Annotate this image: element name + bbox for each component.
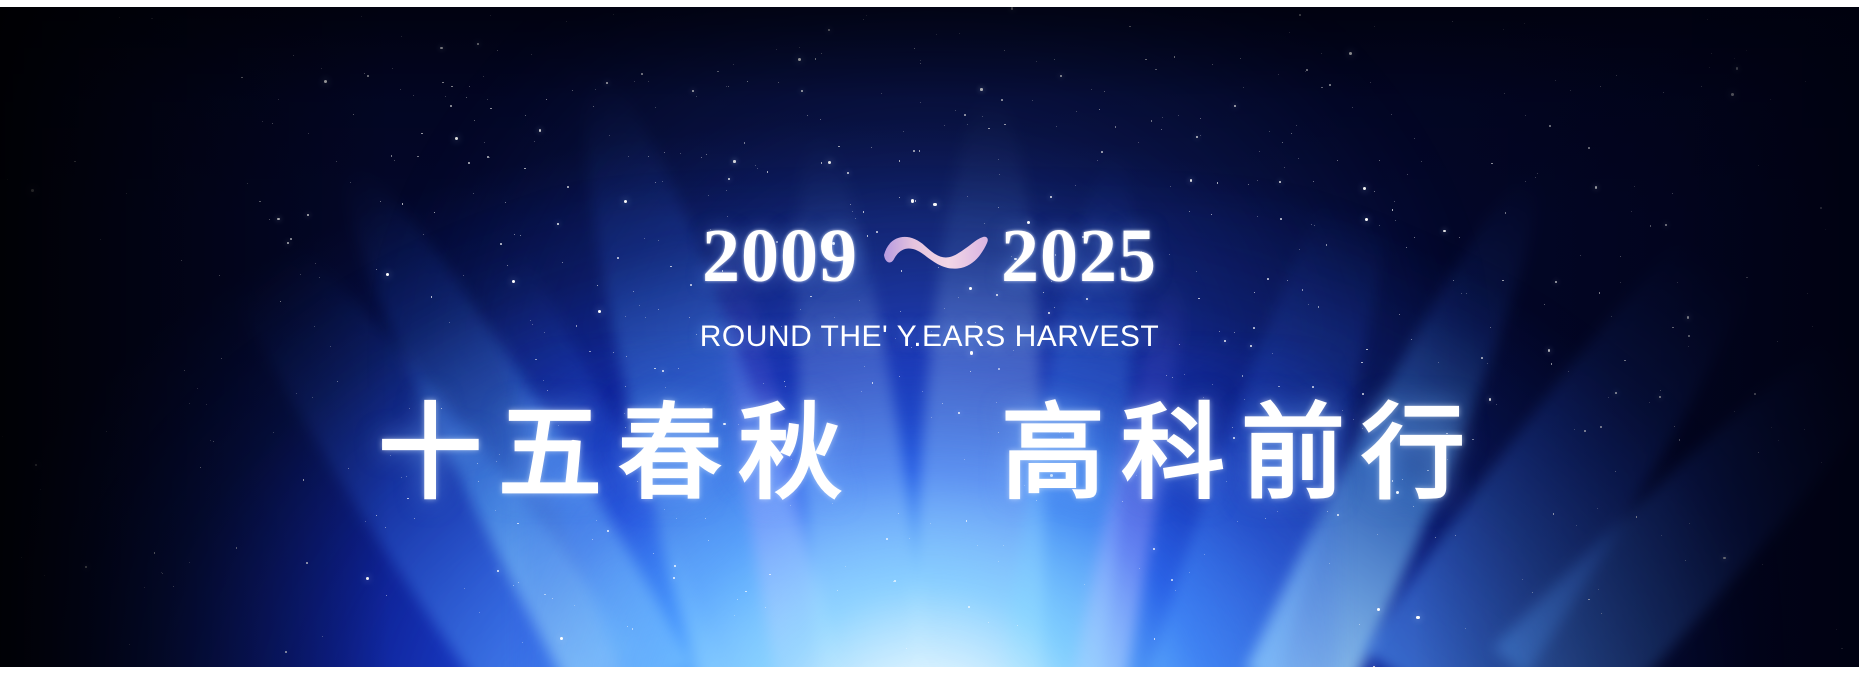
top-white-strip bbox=[0, 0, 1859, 7]
headline-left: 十五春秋 bbox=[378, 392, 858, 515]
headline-row: 十五春秋 高科前行 bbox=[0, 392, 1859, 515]
banner-content: 2009 2025 ROUND THE' Y.EARS HARV bbox=[0, 0, 1859, 680]
headline-right: 高科前行 bbox=[1001, 392, 1481, 515]
subtitle-text: ROUND THE' Y.EARS HARVEST bbox=[0, 320, 1859, 354]
year-start: 2009 bbox=[702, 218, 858, 294]
bottom-white-strip bbox=[0, 667, 1859, 680]
year-end: 2025 bbox=[1001, 218, 1157, 294]
tilde-swoosh-icon bbox=[879, 221, 991, 281]
year-range: 2009 2025 bbox=[0, 218, 1859, 294]
anniversary-banner: 2009 2025 ROUND THE' Y.EARS HARV bbox=[0, 0, 1859, 680]
